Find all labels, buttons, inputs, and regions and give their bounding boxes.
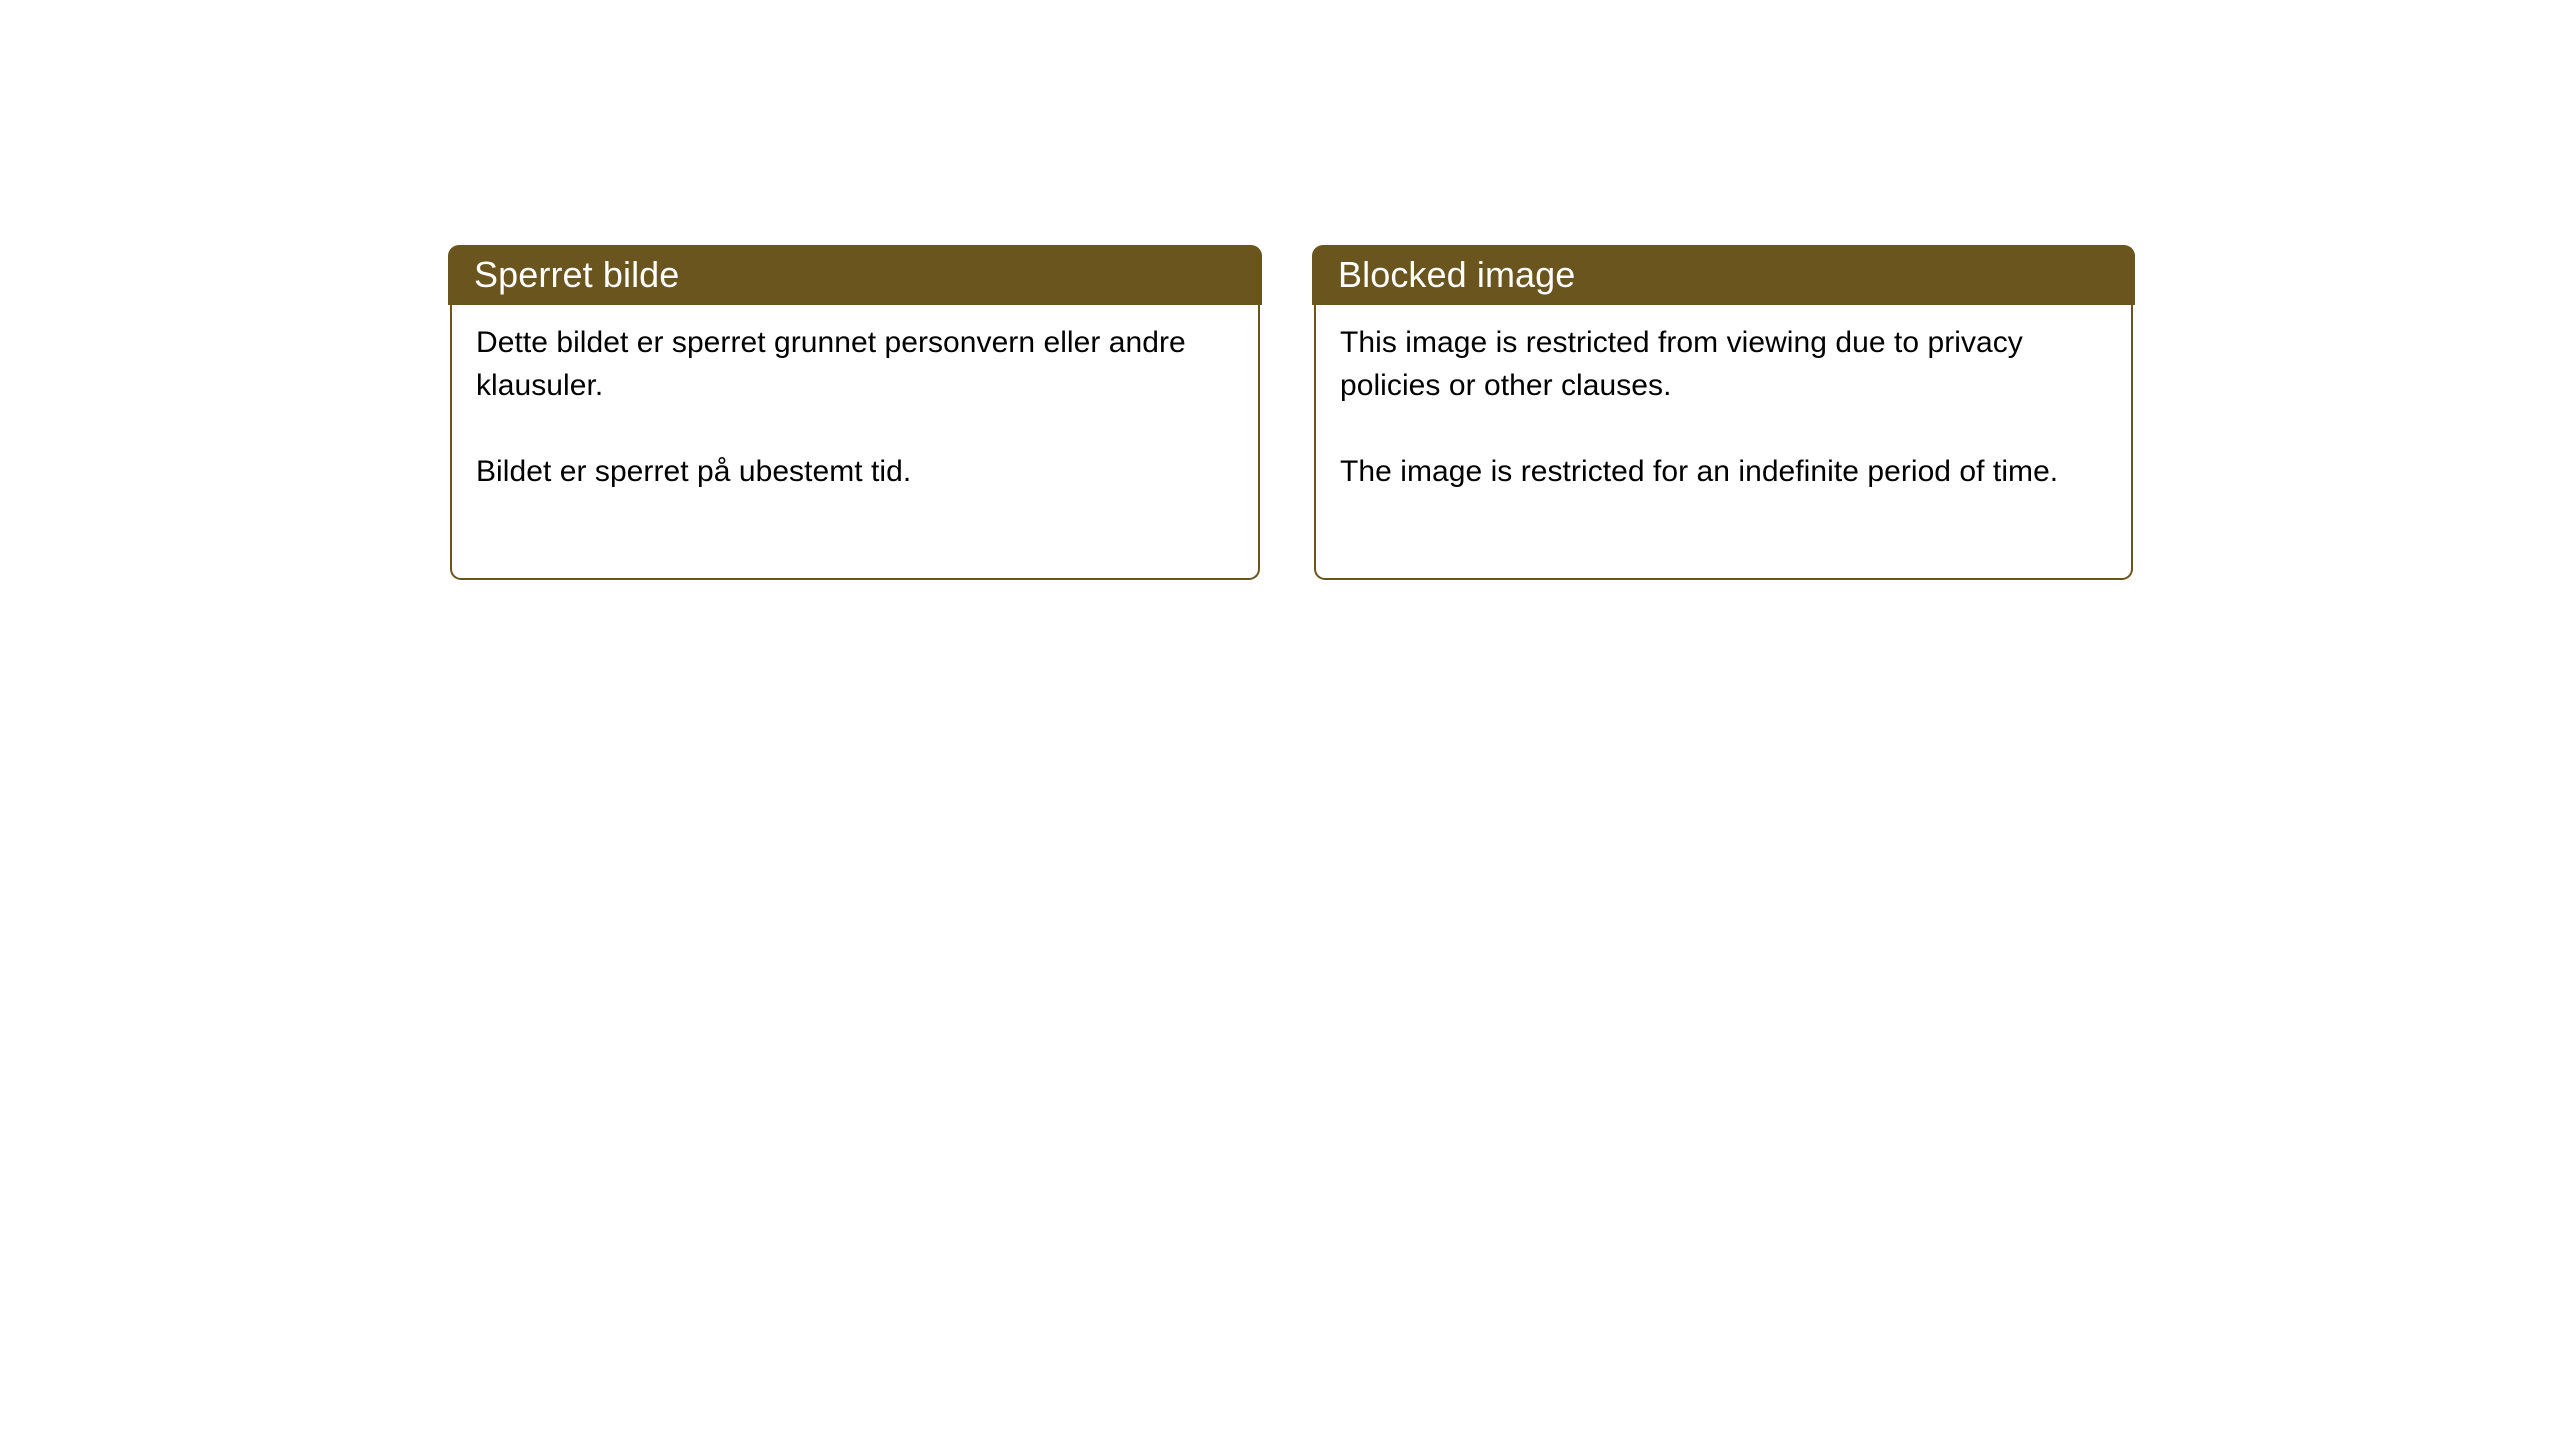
card-paragraph-english-2: The image is restricted for an indefinit…: [1340, 450, 2107, 493]
card-body-norwegian: Dette bildet er sperret grunnet personve…: [450, 303, 1260, 580]
card-title-norwegian: Sperret bilde: [448, 254, 679, 296]
card-title-english: Blocked image: [1312, 254, 1575, 296]
card-header-english: Blocked image: [1312, 245, 2135, 305]
card-body-english: This image is restricted from viewing du…: [1314, 303, 2133, 580]
page-root: Sperret bilde Dette bildet er sperret gr…: [0, 0, 2560, 1440]
card-header-norwegian: Sperret bilde: [448, 245, 1262, 305]
card-paragraph-norwegian-2: Bildet er sperret på ubestemt tid.: [476, 450, 1234, 493]
card-paragraph-english-1: This image is restricted from viewing du…: [1340, 321, 2107, 407]
blocked-image-notice-norwegian: Sperret bilde Dette bildet er sperret gr…: [448, 245, 1262, 580]
blocked-image-notice-english: Blocked image This image is restricted f…: [1312, 245, 2135, 580]
card-paragraph-norwegian-1: Dette bildet er sperret grunnet personve…: [476, 321, 1234, 407]
